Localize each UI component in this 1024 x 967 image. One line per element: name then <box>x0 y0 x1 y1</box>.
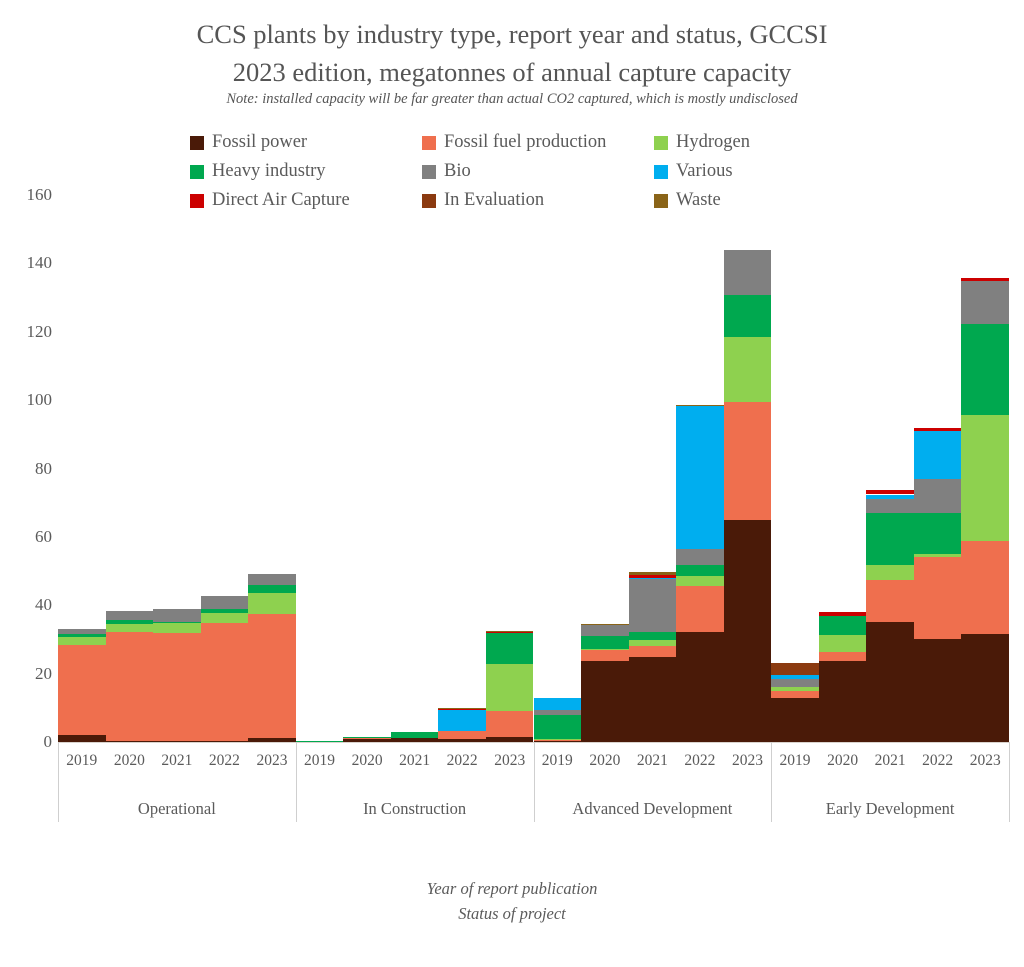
segment-heavy-industry <box>819 616 867 635</box>
segment-hydrogen <box>486 664 534 710</box>
bar-early-development-2020[interactable] <box>819 612 867 742</box>
y-axis-tick-140: 140 <box>0 253 52 273</box>
y-axis-tick-40: 40 <box>0 595 52 615</box>
segment-waste <box>438 708 486 709</box>
segment-heavy-industry <box>581 636 629 649</box>
bar-early-development-2019[interactable] <box>771 663 819 742</box>
panel-separator <box>295 195 296 742</box>
x-axis-tick-operational-2019: 2019 <box>58 752 106 770</box>
segment-bio <box>58 629 106 633</box>
segment-heavy-industry <box>391 732 439 737</box>
axis-caption-line-1: Year of report publication <box>0 876 1024 901</box>
segment-fossil-fuel-production <box>961 541 1009 634</box>
bar-in-construction-2022[interactable] <box>438 709 486 743</box>
segment-hydrogen <box>153 623 201 633</box>
segment-waste <box>486 631 534 632</box>
facet-advanced-development <box>534 195 772 742</box>
segment-hydrogen <box>771 687 819 691</box>
segment-heavy-industry <box>866 513 914 566</box>
segment-fossil-fuel-production <box>581 650 629 661</box>
segment-bio <box>676 549 724 565</box>
segment-heavy-industry <box>534 715 582 739</box>
segment-fossil-power <box>866 622 914 742</box>
segment-hydrogen <box>106 624 154 633</box>
facet-divider <box>534 742 535 822</box>
segment-hydrogen <box>724 337 772 402</box>
segment-heavy-industry <box>106 620 154 624</box>
chart-title-line-2: 2023 edition, megatonnes of annual captu… <box>0 54 1024 90</box>
x-axis-tick-operational-2023: 2023 <box>248 752 296 770</box>
facet-divider <box>771 742 772 822</box>
chart-title-line-1: CCS plants by industry type, report year… <box>0 16 1024 52</box>
legend-label-various: Various <box>676 161 733 182</box>
segment-fossil-fuel-production <box>486 711 534 738</box>
segment-fossil-power <box>961 634 1009 742</box>
segment-bio <box>106 611 154 620</box>
x-axis-tick-early-development-2022: 2022 <box>914 752 962 770</box>
segment-fossil-fuel-production <box>866 580 914 621</box>
legend-swatch-fossil-power <box>190 136 204 150</box>
x-axis-tick-advanced-development-2019: 2019 <box>534 752 582 770</box>
facet-label-operational: Operational <box>58 799 296 819</box>
segment-hydrogen <box>248 593 296 614</box>
y-axis-tick-160: 160 <box>0 185 52 205</box>
legend-label-bio: Bio <box>444 161 471 182</box>
bar-advanced-development-2022[interactable] <box>676 405 724 742</box>
segment-heavy-industry <box>201 609 249 613</box>
segment-various <box>914 431 962 479</box>
x-axis-tick-in-construction-2022: 2022 <box>438 752 486 770</box>
segment-bio <box>153 609 201 621</box>
segment-heavy-industry <box>629 632 677 641</box>
segment-fossil-fuel-production <box>771 691 819 697</box>
bar-advanced-development-2021[interactable] <box>629 572 677 742</box>
legend-item-various[interactable]: Various <box>654 161 830 182</box>
segment-fossil-fuel-production <box>248 614 296 738</box>
segment-hydrogen <box>866 565 914 580</box>
segment-heavy-industry <box>961 324 1009 415</box>
segment-in-evaluation <box>771 663 819 675</box>
bar-operational-2019[interactable] <box>58 629 106 742</box>
segment-bio <box>914 479 962 514</box>
segment-bio <box>961 281 1009 324</box>
segment-hydrogen <box>961 415 1009 540</box>
segment-fossil-power <box>676 632 724 742</box>
facet-label-early-development: Early Development <box>771 799 1009 819</box>
bar-advanced-development-2020[interactable] <box>581 624 629 742</box>
segment-heavy-industry <box>486 633 534 664</box>
panel-separator <box>533 195 534 742</box>
facet-divider <box>1009 742 1010 822</box>
legend-item-fossil-power[interactable]: Fossil power <box>190 132 422 153</box>
y-axis-tick-60: 60 <box>0 527 52 547</box>
x-axis: 20192020202120222023Operational201920202… <box>58 742 1009 827</box>
x-axis-tick-operational-2020: 2020 <box>106 752 154 770</box>
segment-fossil-fuel-production <box>629 646 677 657</box>
legend-item-fossil-fuel-production[interactable]: Fossil fuel production <box>422 132 654 153</box>
legend-label-heavy-industry: Heavy industry <box>212 161 326 182</box>
segment-direct-air-capture <box>629 575 677 578</box>
x-axis-tick-advanced-development-2020: 2020 <box>581 752 629 770</box>
segment-various <box>866 495 914 499</box>
segment-various <box>771 675 819 679</box>
segment-waste <box>676 405 724 407</box>
legend-item-hydrogen[interactable]: Hydrogen <box>654 132 830 153</box>
x-axis-tick-early-development-2021: 2021 <box>866 752 914 770</box>
segment-direct-air-capture <box>819 612 867 615</box>
bar-early-development-2022[interactable] <box>914 428 962 742</box>
segment-bio <box>201 596 249 608</box>
bar-advanced-development-2023[interactable] <box>724 250 772 742</box>
segment-direct-air-capture <box>438 709 486 710</box>
segment-heavy-industry <box>153 622 201 623</box>
x-axis-tick-in-construction-2020: 2020 <box>343 752 391 770</box>
legend-label-fossil-power: Fossil power <box>212 132 307 153</box>
facet-label-advanced-development: Advanced Development <box>534 799 772 819</box>
segment-hydrogen <box>819 635 867 652</box>
chart-note: Note: installed capacity will be far gre… <box>0 91 1024 108</box>
x-axis-tick-in-construction-2023: 2023 <box>486 752 534 770</box>
segment-heavy-industry <box>58 634 106 637</box>
segment-fossil-power <box>724 520 772 742</box>
segment-fossil-fuel-production <box>438 731 486 739</box>
y-axis-tick-100: 100 <box>0 390 52 410</box>
segment-bio <box>248 574 296 585</box>
legend-item-heavy-industry[interactable]: Heavy industry <box>190 161 422 182</box>
y-axis: 020406080100120140160 <box>0 195 52 742</box>
x-axis-tick-early-development-2020: 2020 <box>819 752 867 770</box>
segment-fossil-fuel-production <box>724 402 772 520</box>
segment-hydrogen <box>581 649 629 650</box>
segment-bio <box>629 579 677 631</box>
panel-separator <box>770 195 771 742</box>
segment-heavy-industry <box>914 513 962 553</box>
x-axis-tick-in-construction-2021: 2021 <box>391 752 439 770</box>
segment-waste <box>581 624 629 625</box>
segment-heavy-industry <box>676 565 724 576</box>
segment-bio <box>866 499 914 513</box>
facet-label-in-construction: In Construction <box>296 799 534 819</box>
y-axis-tick-120: 120 <box>0 322 52 342</box>
bar-in-construction-2023[interactable] <box>486 631 534 742</box>
segment-hydrogen <box>676 576 724 586</box>
segment-hydrogen <box>58 637 106 645</box>
segment-direct-air-capture <box>914 428 962 431</box>
bar-operational-2020[interactable] <box>106 611 154 742</box>
segment-bio <box>724 250 772 294</box>
facet-early-development <box>771 195 1009 742</box>
bar-advanced-development-2019[interactable] <box>534 698 582 742</box>
y-axis-tick-0: 0 <box>0 732 52 752</box>
facet-divider <box>58 742 59 822</box>
segment-bio <box>581 625 629 635</box>
x-axis-tick-in-construction-2019: 2019 <box>296 752 344 770</box>
legend-label-fossil-fuel-production: Fossil fuel production <box>444 132 606 153</box>
segment-fossil-power <box>581 661 629 742</box>
facet-in-construction <box>296 195 534 742</box>
x-axis-tick-advanced-development-2023: 2023 <box>724 752 772 770</box>
y-axis-tick-80: 80 <box>0 459 52 479</box>
x-axis-tick-operational-2021: 2021 <box>153 752 201 770</box>
segment-fossil-power <box>58 735 106 742</box>
bar-operational-2023[interactable] <box>248 574 296 742</box>
segment-direct-air-capture <box>866 490 914 494</box>
axis-caption: Year of report publication Status of pro… <box>0 876 1024 926</box>
segment-bio <box>771 679 819 687</box>
segment-fossil-power <box>629 657 677 742</box>
segment-fossil-fuel-production <box>106 632 154 740</box>
segment-heavy-industry <box>248 585 296 593</box>
x-axis-tick-advanced-development-2022: 2022 <box>676 752 724 770</box>
segment-various <box>629 578 677 579</box>
segment-direct-air-capture <box>486 632 534 633</box>
segment-hydrogen <box>629 640 677 645</box>
segment-bio <box>534 710 582 715</box>
legend-item-bio[interactable]: Bio <box>422 161 654 182</box>
segment-fossil-fuel-production <box>534 740 582 741</box>
x-axis-tick-advanced-development-2021: 2021 <box>629 752 677 770</box>
facet-operational <box>58 195 296 742</box>
y-axis-tick-20: 20 <box>0 664 52 684</box>
segment-direct-air-capture <box>961 278 1009 281</box>
segment-fossil-power <box>819 661 867 742</box>
x-axis-tick-early-development-2019: 2019 <box>771 752 819 770</box>
segment-heavy-industry <box>724 295 772 337</box>
segment-fossil-power <box>914 639 962 742</box>
legend-swatch-various <box>654 165 668 179</box>
bar-early-development-2023[interactable] <box>961 278 1009 742</box>
segment-hydrogen <box>201 613 249 623</box>
segment-fossil-fuel-production <box>819 652 867 661</box>
segment-fossil-fuel-production <box>58 645 106 736</box>
bar-in-construction-2021[interactable] <box>391 732 439 742</box>
segment-various <box>534 698 582 710</box>
bar-operational-2021[interactable] <box>153 609 201 742</box>
legend-swatch-hydrogen <box>654 136 668 150</box>
x-axis-tick-early-development-2023: 2023 <box>961 752 1009 770</box>
legend-swatch-bio <box>422 165 436 179</box>
segment-heavy-industry <box>343 737 391 739</box>
x-axis-tick-operational-2022: 2022 <box>201 752 249 770</box>
legend-swatch-fossil-fuel-production <box>422 136 436 150</box>
plot-area <box>58 195 1009 742</box>
axis-caption-line-2: Status of project <box>0 901 1024 926</box>
segment-fossil-fuel-production <box>914 557 962 638</box>
segment-hydrogen <box>914 554 962 558</box>
bar-operational-2022[interactable] <box>201 596 249 742</box>
legend-swatch-heavy-industry <box>190 165 204 179</box>
chart-canvas: CCS plants by industry type, report year… <box>0 0 1024 967</box>
segment-fossil-fuel-production <box>153 633 201 741</box>
segment-hydrogen <box>534 739 582 740</box>
bar-early-development-2021[interactable] <box>866 490 914 742</box>
segment-various <box>438 710 486 731</box>
facet-divider <box>296 742 297 822</box>
legend-label-hydrogen: Hydrogen <box>676 132 750 153</box>
segment-waste <box>629 572 677 575</box>
segment-various <box>676 406 724 548</box>
segment-fossil-power <box>771 698 819 742</box>
segment-fossil-fuel-production <box>676 586 724 632</box>
segment-fossil-fuel-production <box>201 623 249 741</box>
